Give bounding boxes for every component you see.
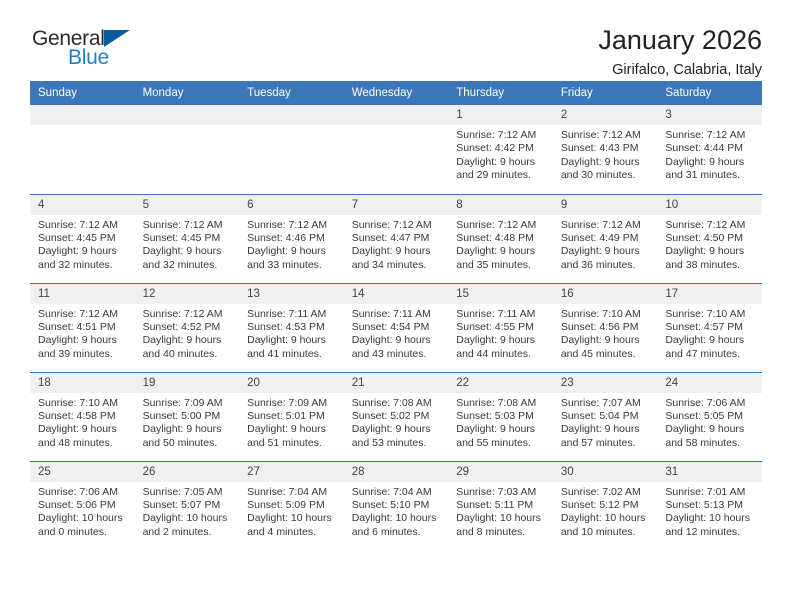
- general-blue-logo: General Blue: [30, 26, 150, 74]
- calendar-day-cell[interactable]: 1Sunrise: 7:12 AMSunset: 4:42 PMDaylight…: [448, 105, 553, 194]
- daylight-text-line1: Daylight: 10 hours: [352, 512, 443, 525]
- sunset-text: Sunset: 4:47 PM: [352, 232, 443, 245]
- daylight-text-line1: Daylight: 9 hours: [352, 423, 443, 436]
- sunset-text: Sunset: 5:12 PM: [561, 499, 652, 512]
- sunrise-text: Sunrise: 7:10 AM: [38, 397, 129, 410]
- sunset-text: Sunset: 4:56 PM: [561, 321, 652, 334]
- sunset-text: Sunset: 5:07 PM: [143, 499, 234, 512]
- calendar-week-row: 11Sunrise: 7:12 AMSunset: 4:51 PMDayligh…: [30, 283, 762, 372]
- sunset-text: Sunset: 4:53 PM: [247, 321, 338, 334]
- sunset-text: Sunset: 5:00 PM: [143, 410, 234, 423]
- day-details: Sunrise: 7:12 AMSunset: 4:43 PMDaylight:…: [553, 125, 658, 183]
- daylight-text-line1: Daylight: 9 hours: [561, 423, 652, 436]
- calendar-day-cell[interactable]: 4Sunrise: 7:12 AMSunset: 4:45 PMDaylight…: [30, 194, 135, 283]
- day-details: Sunrise: 7:10 AMSunset: 4:57 PMDaylight:…: [657, 304, 762, 362]
- sunrise-text: Sunrise: 7:08 AM: [456, 397, 547, 410]
- daylight-text-line1: Daylight: 9 hours: [561, 334, 652, 347]
- daylight-text-line2: and 10 minutes.: [561, 526, 652, 539]
- daylight-text-line2: and 41 minutes.: [247, 348, 338, 361]
- weekday-header-monday: Monday: [135, 81, 240, 105]
- daylight-text-line1: Daylight: 9 hours: [456, 423, 547, 436]
- sunrise-text: Sunrise: 7:12 AM: [38, 219, 129, 232]
- day-details: Sunrise: 7:12 AMSunset: 4:52 PMDaylight:…: [135, 304, 240, 362]
- day-number: 9: [553, 195, 658, 215]
- weekday-header-wednesday: Wednesday: [344, 81, 449, 105]
- daylight-text-line1: Daylight: 9 hours: [665, 334, 756, 347]
- calendar-day-cell[interactable]: 31Sunrise: 7:01 AMSunset: 5:13 PMDayligh…: [657, 461, 762, 550]
- weekday-header-friday: Friday: [553, 81, 658, 105]
- daylight-text-line2: and 6 minutes.: [352, 526, 443, 539]
- calendar-day-cell[interactable]: 3Sunrise: 7:12 AMSunset: 4:44 PMDaylight…: [657, 105, 762, 194]
- day-number: 19: [135, 373, 240, 393]
- day-details: Sunrise: 7:11 AMSunset: 4:53 PMDaylight:…: [239, 304, 344, 362]
- daylight-text-line1: Daylight: 10 hours: [38, 512, 129, 525]
- day-number: 2: [553, 105, 658, 125]
- day-number: [344, 105, 449, 125]
- sunset-text: Sunset: 4:43 PM: [561, 142, 652, 155]
- sunset-text: Sunset: 4:50 PM: [665, 232, 756, 245]
- daylight-text-line1: Daylight: 9 hours: [352, 334, 443, 347]
- daylight-text-line1: Daylight: 10 hours: [456, 512, 547, 525]
- daylight-text-line2: and 48 minutes.: [38, 437, 129, 450]
- sunrise-text: Sunrise: 7:12 AM: [561, 129, 652, 142]
- daylight-text-line1: Daylight: 9 hours: [38, 245, 129, 258]
- day-number: 25: [30, 462, 135, 482]
- daylight-text-line1: Daylight: 9 hours: [38, 334, 129, 347]
- calendar-day-cell-empty: [344, 105, 449, 194]
- day-number: 22: [448, 373, 553, 393]
- logo-word-blue: Blue: [68, 47, 109, 68]
- calendar-week-row: 18Sunrise: 7:10 AMSunset: 4:58 PMDayligh…: [30, 372, 762, 461]
- daylight-text-line1: Daylight: 10 hours: [247, 512, 338, 525]
- calendar-day-cell-empty: [239, 105, 344, 194]
- daylight-text-line1: Daylight: 9 hours: [456, 156, 547, 169]
- day-number: 28: [344, 462, 449, 482]
- daylight-text-line2: and 47 minutes.: [665, 348, 756, 361]
- day-number: 8: [448, 195, 553, 215]
- calendar-day-cell[interactable]: 17Sunrise: 7:10 AMSunset: 4:57 PMDayligh…: [657, 283, 762, 372]
- daylight-text-line2: and 57 minutes.: [561, 437, 652, 450]
- daylight-text-line2: and 12 minutes.: [665, 526, 756, 539]
- sunrise-text: Sunrise: 7:08 AM: [352, 397, 443, 410]
- day-details: Sunrise: 7:04 AMSunset: 5:09 PMDaylight:…: [239, 482, 344, 540]
- page-subtitle: Girifalco, Calabria, Italy: [598, 63, 762, 78]
- calendar-day-cell[interactable]: 20Sunrise: 7:09 AMSunset: 5:01 PMDayligh…: [239, 372, 344, 461]
- calendar-day-cell[interactable]: 19Sunrise: 7:09 AMSunset: 5:00 PMDayligh…: [135, 372, 240, 461]
- day-details: Sunrise: 7:12 AMSunset: 4:50 PMDaylight:…: [657, 215, 762, 273]
- calendar-day-cell[interactable]: 28Sunrise: 7:04 AMSunset: 5:10 PMDayligh…: [344, 461, 449, 550]
- calendar-day-cell[interactable]: 27Sunrise: 7:04 AMSunset: 5:09 PMDayligh…: [239, 461, 344, 550]
- daylight-text-line1: Daylight: 9 hours: [247, 245, 338, 258]
- day-number: 3: [657, 105, 762, 125]
- day-number: 26: [135, 462, 240, 482]
- sunrise-text: Sunrise: 7:12 AM: [665, 219, 756, 232]
- sunset-text: Sunset: 4:52 PM: [143, 321, 234, 334]
- day-number: 13: [239, 284, 344, 304]
- sunrise-text: Sunrise: 7:06 AM: [38, 486, 129, 499]
- day-number: 12: [135, 284, 240, 304]
- sunrise-text: Sunrise: 7:11 AM: [456, 308, 547, 321]
- daylight-text-line2: and 32 minutes.: [143, 259, 234, 272]
- day-details: Sunrise: 7:12 AMSunset: 4:45 PMDaylight:…: [135, 215, 240, 273]
- sunrise-text: Sunrise: 7:07 AM: [561, 397, 652, 410]
- day-number: 5: [135, 195, 240, 215]
- calendar-day-cell[interactable]: 6Sunrise: 7:12 AMSunset: 4:46 PMDaylight…: [239, 194, 344, 283]
- day-details: Sunrise: 7:12 AMSunset: 4:51 PMDaylight:…: [30, 304, 135, 362]
- calendar-day-cell-empty: [30, 105, 135, 194]
- daylight-text-line2: and 51 minutes.: [247, 437, 338, 450]
- calendar-day-cell[interactable]: 14Sunrise: 7:11 AMSunset: 4:54 PMDayligh…: [344, 283, 449, 372]
- sunrise-text: Sunrise: 7:05 AM: [143, 486, 234, 499]
- sunset-text: Sunset: 5:03 PM: [456, 410, 547, 423]
- calendar-page: General Blue January 2026 Girifalco, Cal…: [0, 0, 792, 612]
- day-number: 16: [553, 284, 658, 304]
- sunrise-text: Sunrise: 7:09 AM: [143, 397, 234, 410]
- calendar-day-cell[interactable]: 13Sunrise: 7:11 AMSunset: 4:53 PMDayligh…: [239, 283, 344, 372]
- day-number: 4: [30, 195, 135, 215]
- daylight-text-line2: and 44 minutes.: [456, 348, 547, 361]
- calendar-day-cell[interactable]: 12Sunrise: 7:12 AMSunset: 4:52 PMDayligh…: [135, 283, 240, 372]
- sunset-text: Sunset: 5:02 PM: [352, 410, 443, 423]
- calendar-day-cell[interactable]: 16Sunrise: 7:10 AMSunset: 4:56 PMDayligh…: [553, 283, 658, 372]
- daylight-text-line2: and 31 minutes.: [665, 169, 756, 182]
- calendar-day-cell-empty: [135, 105, 240, 194]
- page-title: January 2026: [598, 26, 762, 54]
- sunrise-text: Sunrise: 7:03 AM: [456, 486, 547, 499]
- sunrise-text: Sunrise: 7:12 AM: [247, 219, 338, 232]
- day-details: Sunrise: 7:05 AMSunset: 5:07 PMDaylight:…: [135, 482, 240, 540]
- sunset-text: Sunset: 4:44 PM: [665, 142, 756, 155]
- sunset-text: Sunset: 4:51 PM: [38, 321, 129, 334]
- day-details: Sunrise: 7:01 AMSunset: 5:13 PMDaylight:…: [657, 482, 762, 540]
- sunset-text: Sunset: 4:55 PM: [456, 321, 547, 334]
- day-details: Sunrise: 7:12 AMSunset: 4:48 PMDaylight:…: [448, 215, 553, 273]
- sunrise-text: Sunrise: 7:04 AM: [352, 486, 443, 499]
- calendar-day-cell[interactable]: 7Sunrise: 7:12 AMSunset: 4:47 PMDaylight…: [344, 194, 449, 283]
- calendar-day-cell[interactable]: 2Sunrise: 7:12 AMSunset: 4:43 PMDaylight…: [553, 105, 658, 194]
- calendar-day-cell[interactable]: 26Sunrise: 7:05 AMSunset: 5:07 PMDayligh…: [135, 461, 240, 550]
- sunrise-text: Sunrise: 7:12 AM: [456, 129, 547, 142]
- day-number: 7: [344, 195, 449, 215]
- sunrise-text: Sunrise: 7:12 AM: [143, 308, 234, 321]
- day-details: Sunrise: 7:09 AMSunset: 5:00 PMDaylight:…: [135, 393, 240, 451]
- day-details: Sunrise: 7:12 AMSunset: 4:45 PMDaylight:…: [30, 215, 135, 273]
- calendar-day-cell[interactable]: 30Sunrise: 7:02 AMSunset: 5:12 PMDayligh…: [553, 461, 658, 550]
- day-details: Sunrise: 7:09 AMSunset: 5:01 PMDaylight:…: [239, 393, 344, 451]
- daylight-text-line2: and 36 minutes.: [561, 259, 652, 272]
- daylight-text-line1: Daylight: 9 hours: [456, 334, 547, 347]
- daylight-text-line1: Daylight: 9 hours: [38, 423, 129, 436]
- day-number: [135, 105, 240, 125]
- sunset-text: Sunset: 5:11 PM: [456, 499, 547, 512]
- sunrise-text: Sunrise: 7:12 AM: [143, 219, 234, 232]
- calendar-day-cell[interactable]: 10Sunrise: 7:12 AMSunset: 4:50 PMDayligh…: [657, 194, 762, 283]
- daylight-text-line2: and 4 minutes.: [247, 526, 338, 539]
- sunset-text: Sunset: 4:49 PM: [561, 232, 652, 245]
- daylight-text-line1: Daylight: 9 hours: [352, 245, 443, 258]
- day-number: 14: [344, 284, 449, 304]
- day-details: Sunrise: 7:08 AMSunset: 5:02 PMDaylight:…: [344, 393, 449, 451]
- day-number: 29: [448, 462, 553, 482]
- calendar-header-row: Sunday Monday Tuesday Wednesday Thursday…: [30, 81, 762, 105]
- daylight-text-line1: Daylight: 9 hours: [561, 245, 652, 258]
- day-details: Sunrise: 7:03 AMSunset: 5:11 PMDaylight:…: [448, 482, 553, 540]
- calendar-day-cell[interactable]: 29Sunrise: 7:03 AMSunset: 5:11 PMDayligh…: [448, 461, 553, 550]
- sunset-text: Sunset: 5:10 PM: [352, 499, 443, 512]
- sunrise-text: Sunrise: 7:12 AM: [456, 219, 547, 232]
- daylight-text-line1: Daylight: 9 hours: [665, 245, 756, 258]
- daylight-text-line2: and 30 minutes.: [561, 169, 652, 182]
- sunset-text: Sunset: 4:46 PM: [247, 232, 338, 245]
- day-number: 18: [30, 373, 135, 393]
- sunset-text: Sunset: 5:05 PM: [665, 410, 756, 423]
- sunrise-text: Sunrise: 7:10 AM: [665, 308, 756, 321]
- sunset-text: Sunset: 5:04 PM: [561, 410, 652, 423]
- sunrise-text: Sunrise: 7:09 AM: [247, 397, 338, 410]
- weekday-header-saturday: Saturday: [657, 81, 762, 105]
- daylight-text-line2: and 29 minutes.: [456, 169, 547, 182]
- title-block: January 2026 Girifalco, Calabria, Italy: [598, 26, 762, 78]
- sunset-text: Sunset: 5:13 PM: [665, 499, 756, 512]
- sunset-text: Sunset: 4:42 PM: [456, 142, 547, 155]
- daylight-text-line2: and 38 minutes.: [665, 259, 756, 272]
- daylight-text-line1: Daylight: 9 hours: [143, 423, 234, 436]
- day-details: Sunrise: 7:02 AMSunset: 5:12 PMDaylight:…: [553, 482, 658, 540]
- day-number: 27: [239, 462, 344, 482]
- daylight-text-line2: and 8 minutes.: [456, 526, 547, 539]
- weekday-header-thursday: Thursday: [448, 81, 553, 105]
- daylight-text-line2: and 40 minutes.: [143, 348, 234, 361]
- day-number: 24: [657, 373, 762, 393]
- daylight-text-line1: Daylight: 9 hours: [456, 245, 547, 258]
- calendar-body: 1Sunrise: 7:12 AMSunset: 4:42 PMDaylight…: [30, 105, 762, 550]
- sunrise-text: Sunrise: 7:11 AM: [247, 308, 338, 321]
- day-number: 6: [239, 195, 344, 215]
- day-details: Sunrise: 7:08 AMSunset: 5:03 PMDaylight:…: [448, 393, 553, 451]
- daylight-text-line2: and 58 minutes.: [665, 437, 756, 450]
- day-number: 31: [657, 462, 762, 482]
- daylight-text-line1: Daylight: 9 hours: [561, 156, 652, 169]
- calendar-day-cell[interactable]: 25Sunrise: 7:06 AMSunset: 5:06 PMDayligh…: [30, 461, 135, 550]
- calendar-day-cell[interactable]: 8Sunrise: 7:12 AMSunset: 4:48 PMDaylight…: [448, 194, 553, 283]
- calendar-day-cell[interactable]: 23Sunrise: 7:07 AMSunset: 5:04 PMDayligh…: [553, 372, 658, 461]
- daylight-text-line2: and 55 minutes.: [456, 437, 547, 450]
- logo-triangle-icon: [104, 30, 130, 47]
- sunrise-text: Sunrise: 7:12 AM: [665, 129, 756, 142]
- daylight-text-line1: Daylight: 9 hours: [665, 423, 756, 436]
- day-details: Sunrise: 7:12 AMSunset: 4:49 PMDaylight:…: [553, 215, 658, 273]
- daylight-text-line1: Daylight: 10 hours: [665, 512, 756, 525]
- daylight-text-line2: and 35 minutes.: [456, 259, 547, 272]
- sunset-text: Sunset: 4:48 PM: [456, 232, 547, 245]
- day-number: [30, 105, 135, 125]
- sunset-text: Sunset: 5:01 PM: [247, 410, 338, 423]
- daylight-text-line2: and 50 minutes.: [143, 437, 234, 450]
- day-details: Sunrise: 7:12 AMSunset: 4:42 PMDaylight:…: [448, 125, 553, 183]
- day-details: Sunrise: 7:06 AMSunset: 5:05 PMDaylight:…: [657, 393, 762, 451]
- sunrise-text: Sunrise: 7:12 AM: [352, 219, 443, 232]
- sunrise-text: Sunrise: 7:06 AM: [665, 397, 756, 410]
- day-details: Sunrise: 7:12 AMSunset: 4:44 PMDaylight:…: [657, 125, 762, 183]
- sunset-text: Sunset: 4:45 PM: [143, 232, 234, 245]
- daylight-text-line2: and 2 minutes.: [143, 526, 234, 539]
- calendar-table: Sunday Monday Tuesday Wednesday Thursday…: [30, 81, 762, 550]
- sunrise-text: Sunrise: 7:04 AM: [247, 486, 338, 499]
- calendar-day-cell[interactable]: 21Sunrise: 7:08 AMSunset: 5:02 PMDayligh…: [344, 372, 449, 461]
- daylight-text-line2: and 39 minutes.: [38, 348, 129, 361]
- day-details: Sunrise: 7:11 AMSunset: 4:55 PMDaylight:…: [448, 304, 553, 362]
- sunset-text: Sunset: 4:57 PM: [665, 321, 756, 334]
- daylight-text-line2: and 53 minutes.: [352, 437, 443, 450]
- sunset-text: Sunset: 4:45 PM: [38, 232, 129, 245]
- daylight-text-line1: Daylight: 9 hours: [143, 245, 234, 258]
- calendar-day-cell[interactable]: 9Sunrise: 7:12 AMSunset: 4:49 PMDaylight…: [553, 194, 658, 283]
- page-masthead: General Blue January 2026 Girifalco, Cal…: [30, 0, 762, 74]
- day-details: Sunrise: 7:12 AMSunset: 4:47 PMDaylight:…: [344, 215, 449, 273]
- calendar-day-cell[interactable]: 11Sunrise: 7:12 AMSunset: 4:51 PMDayligh…: [30, 283, 135, 372]
- day-details: Sunrise: 7:11 AMSunset: 4:54 PMDaylight:…: [344, 304, 449, 362]
- daylight-text-line2: and 32 minutes.: [38, 259, 129, 272]
- day-number: 17: [657, 284, 762, 304]
- day-number: 30: [553, 462, 658, 482]
- weekday-header-sunday: Sunday: [30, 81, 135, 105]
- daylight-text-line2: and 43 minutes.: [352, 348, 443, 361]
- daylight-text-line1: Daylight: 9 hours: [247, 423, 338, 436]
- daylight-text-line2: and 45 minutes.: [561, 348, 652, 361]
- sunrise-text: Sunrise: 7:12 AM: [561, 219, 652, 232]
- sunrise-text: Sunrise: 7:01 AM: [665, 486, 756, 499]
- sunset-text: Sunset: 5:06 PM: [38, 499, 129, 512]
- day-number: 10: [657, 195, 762, 215]
- sunrise-text: Sunrise: 7:11 AM: [352, 308, 443, 321]
- daylight-text-line1: Daylight: 9 hours: [247, 334, 338, 347]
- calendar-day-cell[interactable]: 15Sunrise: 7:11 AMSunset: 4:55 PMDayligh…: [448, 283, 553, 372]
- day-details: Sunrise: 7:10 AMSunset: 4:56 PMDaylight:…: [553, 304, 658, 362]
- day-details: Sunrise: 7:07 AMSunset: 5:04 PMDaylight:…: [553, 393, 658, 451]
- daylight-text-line2: and 33 minutes.: [247, 259, 338, 272]
- sunrise-text: Sunrise: 7:02 AM: [561, 486, 652, 499]
- day-number: 20: [239, 373, 344, 393]
- day-number: 1: [448, 105, 553, 125]
- calendar-week-row: 1Sunrise: 7:12 AMSunset: 4:42 PMDaylight…: [30, 105, 762, 194]
- sunset-text: Sunset: 5:09 PM: [247, 499, 338, 512]
- calendar-day-cell[interactable]: 5Sunrise: 7:12 AMSunset: 4:45 PMDaylight…: [135, 194, 240, 283]
- weekday-header-tuesday: Tuesday: [239, 81, 344, 105]
- daylight-text-line1: Daylight: 10 hours: [143, 512, 234, 525]
- calendar-week-row: 4Sunrise: 7:12 AMSunset: 4:45 PMDaylight…: [30, 194, 762, 283]
- sunset-text: Sunset: 4:54 PM: [352, 321, 443, 334]
- daylight-text-line2: and 0 minutes.: [38, 526, 129, 539]
- day-number: 11: [30, 284, 135, 304]
- daylight-text-line1: Daylight: 10 hours: [561, 512, 652, 525]
- sunrise-text: Sunrise: 7:12 AM: [38, 308, 129, 321]
- daylight-text-line1: Daylight: 9 hours: [665, 156, 756, 169]
- daylight-text-line2: and 34 minutes.: [352, 259, 443, 272]
- day-number: 21: [344, 373, 449, 393]
- daylight-text-line1: Daylight: 9 hours: [143, 334, 234, 347]
- day-details: Sunrise: 7:12 AMSunset: 4:46 PMDaylight:…: [239, 215, 344, 273]
- calendar-day-cell[interactable]: 24Sunrise: 7:06 AMSunset: 5:05 PMDayligh…: [657, 372, 762, 461]
- calendar-day-cell[interactable]: 18Sunrise: 7:10 AMSunset: 4:58 PMDayligh…: [30, 372, 135, 461]
- day-details: Sunrise: 7:06 AMSunset: 5:06 PMDaylight:…: [30, 482, 135, 540]
- day-details: Sunrise: 7:04 AMSunset: 5:10 PMDaylight:…: [344, 482, 449, 540]
- calendar-week-row: 25Sunrise: 7:06 AMSunset: 5:06 PMDayligh…: [30, 461, 762, 550]
- day-number: 23: [553, 373, 658, 393]
- sunset-text: Sunset: 4:58 PM: [38, 410, 129, 423]
- day-number: 15: [448, 284, 553, 304]
- sunrise-text: Sunrise: 7:10 AM: [561, 308, 652, 321]
- day-details: Sunrise: 7:10 AMSunset: 4:58 PMDaylight:…: [30, 393, 135, 451]
- day-number: [239, 105, 344, 125]
- calendar-day-cell[interactable]: 22Sunrise: 7:08 AMSunset: 5:03 PMDayligh…: [448, 372, 553, 461]
